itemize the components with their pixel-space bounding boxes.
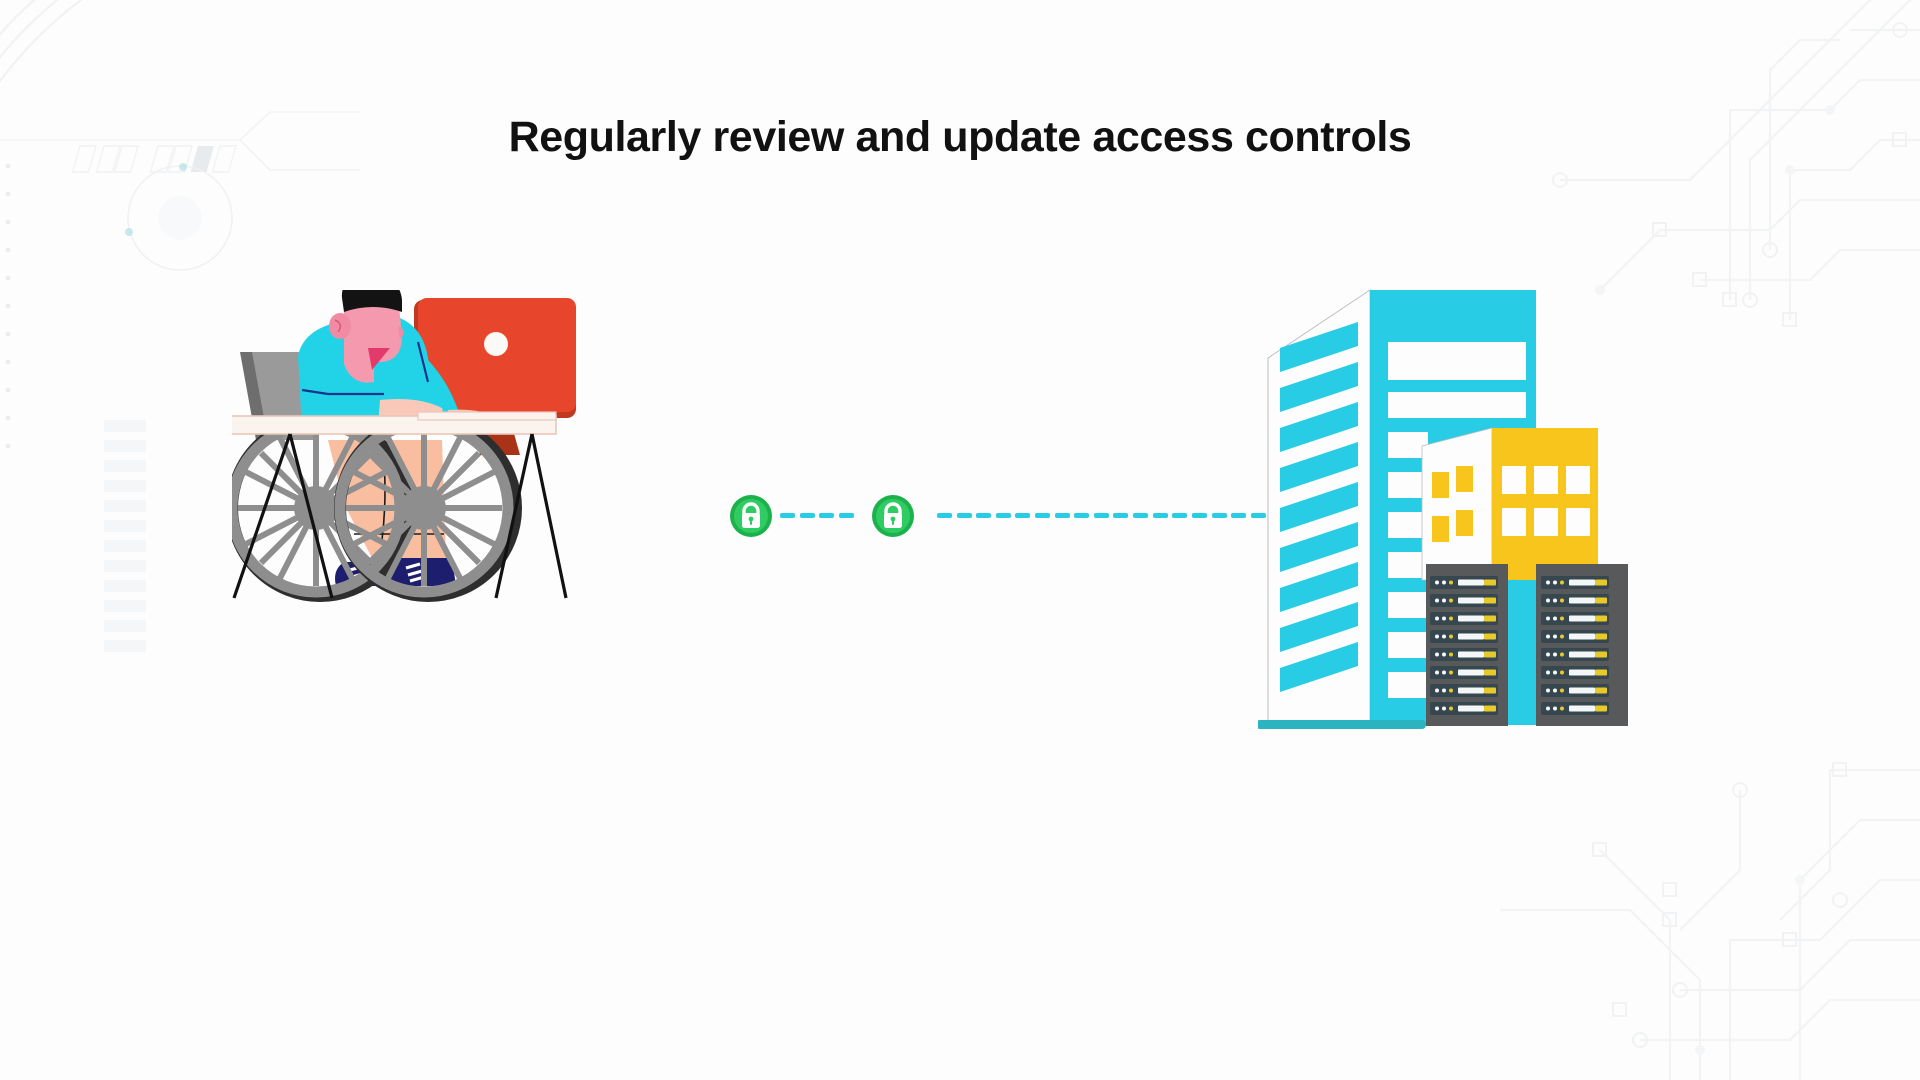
- dash-segment: [1035, 513, 1050, 518]
- ground-line: [1258, 720, 1426, 729]
- dash-segment: [1172, 513, 1187, 518]
- dash-segment: [1094, 513, 1109, 518]
- server-rack-right: [1536, 564, 1628, 726]
- dash-segment: [1212, 513, 1227, 518]
- annex-yellow: [1492, 428, 1598, 580]
- dash-segment: [1231, 513, 1246, 518]
- bottom-right-circuit-decor: [1500, 750, 1920, 1080]
- desk-surface: [232, 412, 556, 434]
- dash-segment: [1113, 513, 1128, 518]
- dash-segment: [1192, 513, 1207, 518]
- dash-segment: [1015, 513, 1030, 518]
- dash-segment: [1055, 513, 1070, 518]
- secure-connection-link: [730, 495, 1290, 555]
- slide-canvas: Regularly review and update access contr…: [0, 0, 1920, 1080]
- lock-icon-2[interactable]: [872, 495, 914, 537]
- office-and-datacenter-illustration: [1258, 280, 1678, 740]
- dash-segment: [1133, 513, 1148, 518]
- left-dotted-rule-decor: [0, 160, 16, 480]
- page-title: Regularly review and update access contr…: [0, 113, 1920, 162]
- dash-segment: [800, 513, 815, 518]
- dash-segment: [780, 513, 795, 518]
- left-ring-decor: [120, 158, 240, 278]
- dash-segment: [1074, 513, 1089, 518]
- dash-segment: [819, 513, 834, 518]
- dash-segment: [1153, 513, 1168, 518]
- server-rack-left: [1426, 564, 1508, 726]
- annex-white-side: [1422, 428, 1492, 580]
- dash-segment: [839, 513, 854, 518]
- dash-segment: [957, 513, 972, 518]
- left-stacked-bars-decor: [104, 420, 154, 670]
- dash-segment: [937, 513, 952, 518]
- dash-segment: [976, 513, 991, 518]
- tower-white-side: [1268, 290, 1370, 725]
- person-in-wheelchair-illustration: [232, 290, 712, 740]
- dash-segment: [996, 513, 1011, 518]
- lock-icon-1[interactable]: [730, 495, 772, 537]
